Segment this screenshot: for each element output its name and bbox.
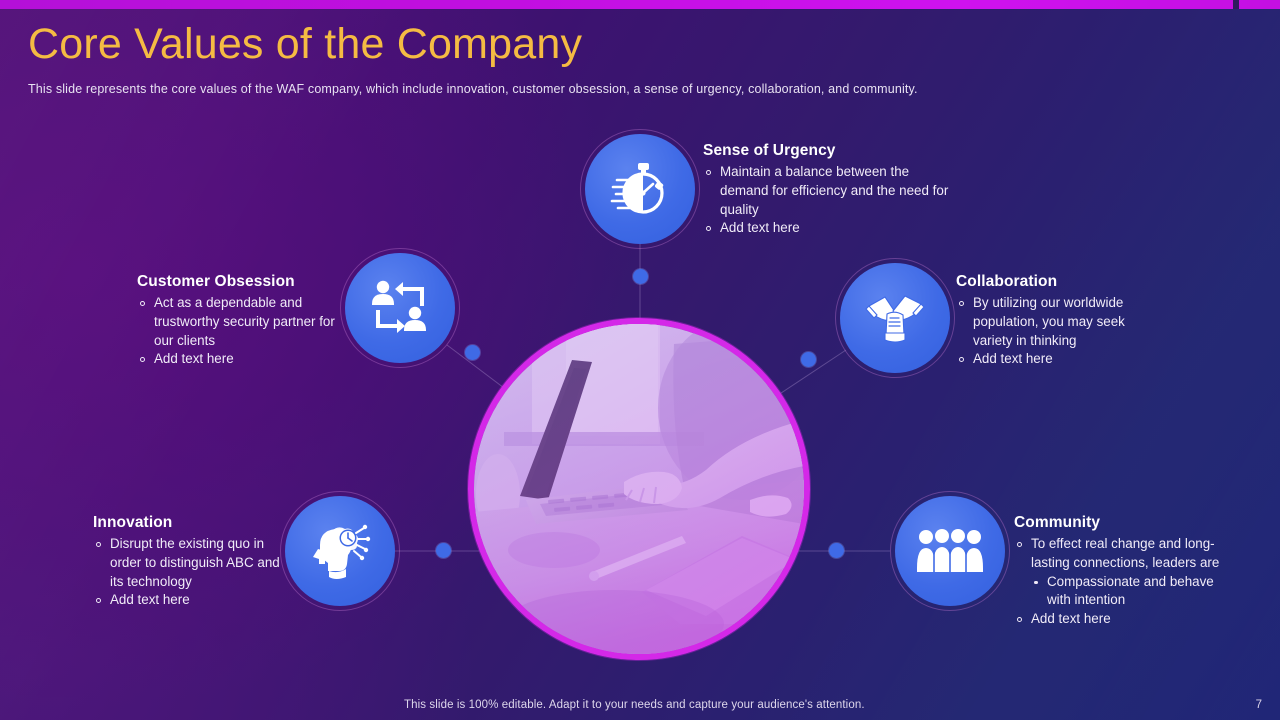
value-title: Collaboration: [956, 272, 1161, 292]
value-bullet: Add text here: [93, 591, 293, 610]
page-subtitle: This slide represents the core values of…: [28, 81, 1028, 98]
connector-dot-urgency: [633, 269, 648, 284]
joined-hands-icon: [864, 287, 926, 349]
value-bullet: Act as a dependable and trustworthy secu…: [137, 294, 352, 350]
value-block-customer-obsession: Customer Obsession Act as a dependable a…: [137, 272, 352, 369]
connector-dot-innovation: [436, 543, 451, 558]
center-photo: [474, 324, 804, 654]
value-title: Innovation: [93, 513, 293, 533]
value-sub-bullet: Compassionate and behave with intention: [1014, 573, 1224, 611]
icon-circle-community[interactable]: [895, 496, 1005, 606]
value-block-innovation: Innovation Disrupt the existing quo in o…: [93, 513, 293, 610]
footer: This slide is 100% editable. Adapt it to…: [0, 686, 1280, 720]
value-bullet: Disrupt the existing quo in order to dis…: [93, 535, 293, 591]
two-people-exchange-icon: [370, 278, 430, 338]
value-title: Customer Obsession: [137, 272, 352, 292]
top-accent-bar: [0, 0, 1280, 9]
value-bullet: Add text here: [137, 350, 352, 369]
value-title: Sense of Urgency: [703, 141, 953, 161]
icon-disc: [840, 263, 950, 373]
value-bullet: By utilizing our worldwide population, y…: [956, 294, 1161, 350]
slide-canvas: Core Values of the Company This slide re…: [0, 0, 1280, 720]
value-bullets: Maintain a balance between the demand fo…: [703, 163, 953, 238]
value-bullet: Add text here: [1014, 610, 1224, 629]
icon-disc: [285, 496, 395, 606]
value-bullets: To effect real change and long-lasting c…: [1014, 535, 1224, 629]
icon-circle-customer-obsession[interactable]: [345, 253, 455, 363]
icon-circle-innovation[interactable]: [285, 496, 395, 606]
icon-circle-sense-of-urgency[interactable]: [585, 134, 695, 244]
center-image-circle: [468, 318, 810, 660]
page-number: 7: [1256, 699, 1262, 711]
footer-note: This slide is 100% editable. Adapt it to…: [404, 699, 865, 711]
group-of-people-icon: [917, 528, 983, 574]
icon-disc: [585, 134, 695, 244]
connector-dot-community: [829, 543, 844, 558]
value-bullets: Disrupt the existing quo in order to dis…: [93, 535, 293, 610]
icon-disc: [895, 496, 1005, 606]
value-bullet: Add text here: [703, 219, 953, 238]
value-bullets: By utilizing our worldwide population, y…: [956, 294, 1161, 369]
value-bullet: To effect real change and long-lasting c…: [1014, 535, 1224, 573]
value-block-sense-of-urgency: Sense of Urgency Maintain a balance betw…: [703, 141, 953, 238]
value-bullets: Act as a dependable and trustworthy secu…: [137, 294, 352, 369]
value-block-collaboration: Collaboration By utilizing our worldwide…: [956, 272, 1161, 369]
stopwatch-icon: [609, 158, 671, 220]
value-bullet: Maintain a balance between the demand fo…: [703, 163, 953, 219]
icon-disc: [345, 253, 455, 363]
value-title: Community: [1014, 513, 1224, 533]
value-bullet: Add text here: [956, 350, 1161, 369]
value-block-community: Community To effect real change and long…: [1014, 513, 1224, 629]
head-brain-clock-icon: [308, 519, 372, 583]
top-accent-bar-notch: [1233, 0, 1239, 9]
icon-circle-collaboration[interactable]: [840, 263, 950, 373]
page-title: Core Values of the Company: [28, 17, 928, 71]
